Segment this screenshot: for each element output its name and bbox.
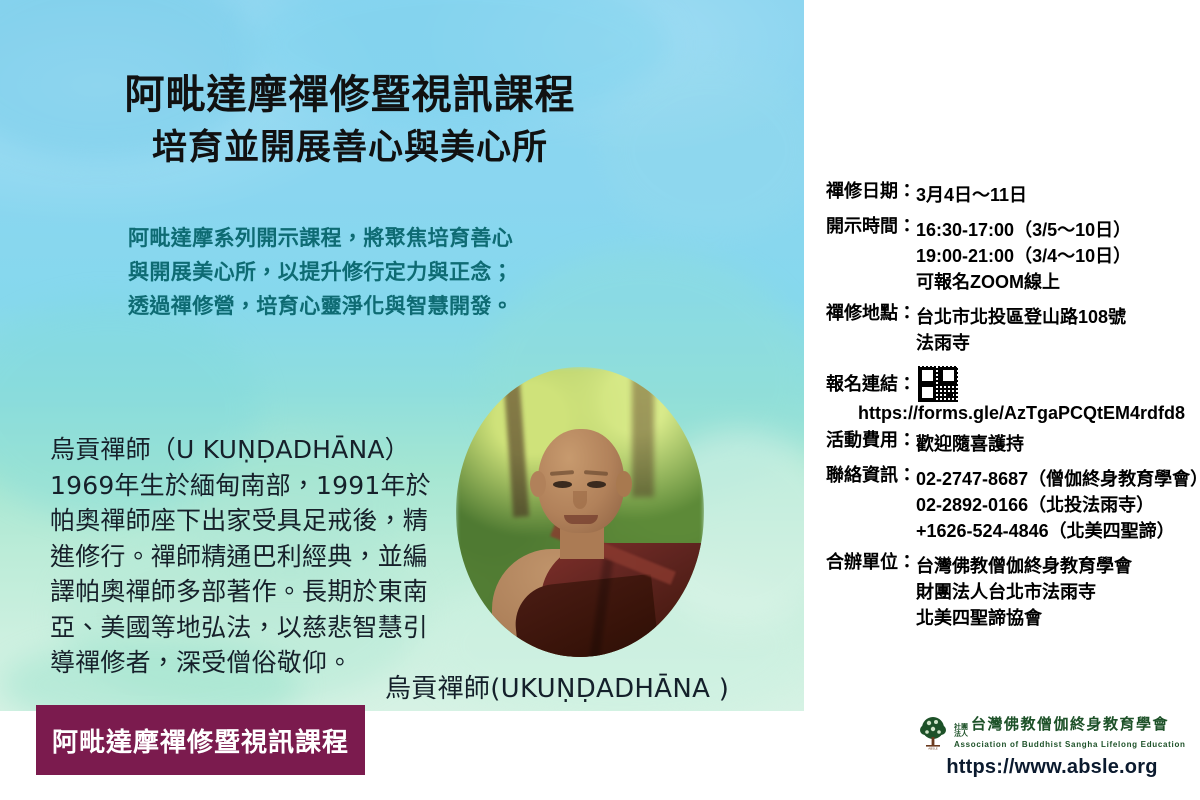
portrait-nose [573, 491, 587, 509]
teacher-portrait-photo [456, 367, 704, 657]
bio-line: 進修行。禪師精通巴利經典，並編 [50, 539, 470, 575]
footer-block: ABSLE 社團 法人 台灣佛教僧伽終身教育學會 Association of … [918, 716, 1186, 779]
lead-line: 與開展美心所，以提升修行定力與正念； [128, 256, 598, 290]
lead-paragraph: 阿毗達摩系列開示課程，將聚焦培育善心 與開展美心所，以提升修行定力與正念； 透過… [128, 222, 598, 324]
info-row-retreat-date: 禪修日期： 3月4日～11日 [826, 182, 1192, 208]
legal-prefix-line: 法人 [954, 731, 968, 738]
qr-code-icon[interactable] [918, 366, 958, 402]
session-time-value: 19:00-21:00（3/4～10日） [916, 243, 1131, 269]
bio-line: 亞、美國等地弘法，以慈悲智慧引 [50, 610, 470, 646]
fee-label: 活動費用： [826, 431, 916, 449]
session-time-value: 可報名ZOOM線上 [916, 269, 1131, 295]
organization-name-english: Association of Buddhist Sangha Lifelong … [954, 741, 1186, 749]
info-row-contact: 聯絡資訊： 02-2747-8687（僧伽終身教育學會） 02-2892-016… [826, 466, 1192, 544]
poster-root: 阿毗達摩禪修暨視訊課程 培育並開展善心與美心所 阿毗達摩系列開示課程，將聚焦培育… [0, 0, 1200, 800]
event-info-panel: 禪修日期： 3月4日～11日 開示時間： 16:30-17:00（3/5～10日… [826, 182, 1192, 640]
portrait-eye [553, 481, 572, 488]
coorganizer-name: 北美四聖諦協會 [916, 605, 1132, 631]
portrait-caption: 烏貢禪師(UKUṆḌADHĀNA ) [385, 668, 785, 705]
venue-value: 台北市北投區登山路108號 [916, 304, 1126, 330]
fee-value: 歡迎隨喜護持 [916, 431, 1024, 457]
contact-phone: 02-2747-8687（僧伽終身教育學會） [916, 466, 1200, 492]
bottom-banner-label: 阿毗達摩禪修暨視訊課程 [52, 722, 349, 759]
venue-value: 法雨寺 [916, 330, 1126, 356]
session-time-value: 16:30-17:00（3/5～10日） [916, 217, 1131, 243]
bio-line: 1969年生於緬甸南部，1991年於 [50, 468, 470, 504]
poster-title-block: 阿毗達摩禪修暨視訊課程 培育並開展善心與美心所 [0, 70, 700, 171]
qr-finder-pattern [919, 384, 936, 401]
svg-text:ABSLE: ABSLE [928, 746, 938, 750]
bio-line: 帕奧禪師座下出家受具足戒後，精 [50, 503, 470, 539]
portrait-tree-trunk [632, 367, 654, 497]
coorganizer-name: 台灣佛教僧伽終身教育學會 [916, 553, 1132, 579]
contact-phone: 02-2892-0166（北投法雨寺） [916, 492, 1200, 518]
page-subtitle: 培育並開展善心與美心所 [0, 124, 700, 171]
bottom-banner: 阿毗達摩禪修暨視訊課程 [36, 705, 365, 775]
organization-website-link[interactable]: https://www.absle.org [918, 756, 1186, 779]
organization-legal-prefix: 社團 法人 [954, 724, 968, 739]
info-row-session-time: 開示時間： 16:30-17:00（3/5～10日） 19:00-21:00（3… [826, 217, 1192, 295]
coorganizers-label: 合辦單位： [826, 553, 916, 571]
lead-line: 阿毗達摩系列開示課程，將聚焦培育善心 [128, 222, 598, 256]
organization-name-block: 社團 法人 台灣佛教僧伽終身教育學會 Association of Buddhi… [954, 717, 1186, 749]
info-row-coorganizers: 合辦單位： 台灣佛教僧伽終身教育學會 財團法人台北市法雨寺 北美四聖諦協會 [826, 553, 1192, 631]
signup-link-label: 報名連結： [826, 375, 916, 393]
coorganizer-name: 財團法人台北市法雨寺 [916, 579, 1132, 605]
lead-line: 透過禪修營，培育心靈淨化與智慧開發。 [128, 290, 598, 324]
teacher-biography: 烏貢禪師（U KUṆḌADHĀNA） 1969年生於緬甸南部，1991年於 帕奧… [50, 432, 470, 681]
bio-line: 譯帕奧禪師多部著作。長期於東南 [50, 574, 470, 610]
contact-label: 聯絡資訊： [826, 466, 916, 484]
contact-phone: +1626-524-4846（北美四聖諦） [916, 518, 1200, 544]
portrait-ear [616, 471, 632, 497]
organization-logo: ABSLE 社團 法人 台灣佛教僧伽終身教育學會 Association of … [918, 716, 1186, 750]
info-row-fee: 活動費用： 歡迎隨喜護持 [826, 431, 1192, 457]
retreat-date-label: 禪修日期： [826, 182, 916, 200]
tree-icon: ABSLE [918, 716, 948, 750]
portrait-mouth [564, 515, 598, 524]
qr-alignment-dot [948, 393, 953, 398]
organization-name-main: 台灣佛教僧伽終身教育學會 [971, 717, 1169, 733]
portrait-ear [530, 471, 546, 497]
session-time-label: 開示時間： [826, 217, 916, 235]
retreat-date-value: 3月4日～11日 [916, 182, 1027, 208]
portrait-eye [587, 481, 606, 488]
signup-url-link[interactable]: https://forms.gle/AzTgaPCQtEM4rdfd8 [826, 404, 1192, 422]
page-title: 阿毗達摩禪修暨視訊課程 [0, 70, 700, 120]
info-row-venue: 禪修地點： 台北市北投區登山路108號 法雨寺 [826, 304, 1192, 356]
organization-name-chinese: 社團 法人 台灣佛教僧伽終身教育學會 [954, 717, 1186, 739]
info-row-signup: 報名連結： [826, 366, 1192, 402]
venue-label: 禪修地點： [826, 304, 916, 322]
bio-line: 烏貢禪師（U KUṆḌADHĀNA） [50, 432, 470, 468]
